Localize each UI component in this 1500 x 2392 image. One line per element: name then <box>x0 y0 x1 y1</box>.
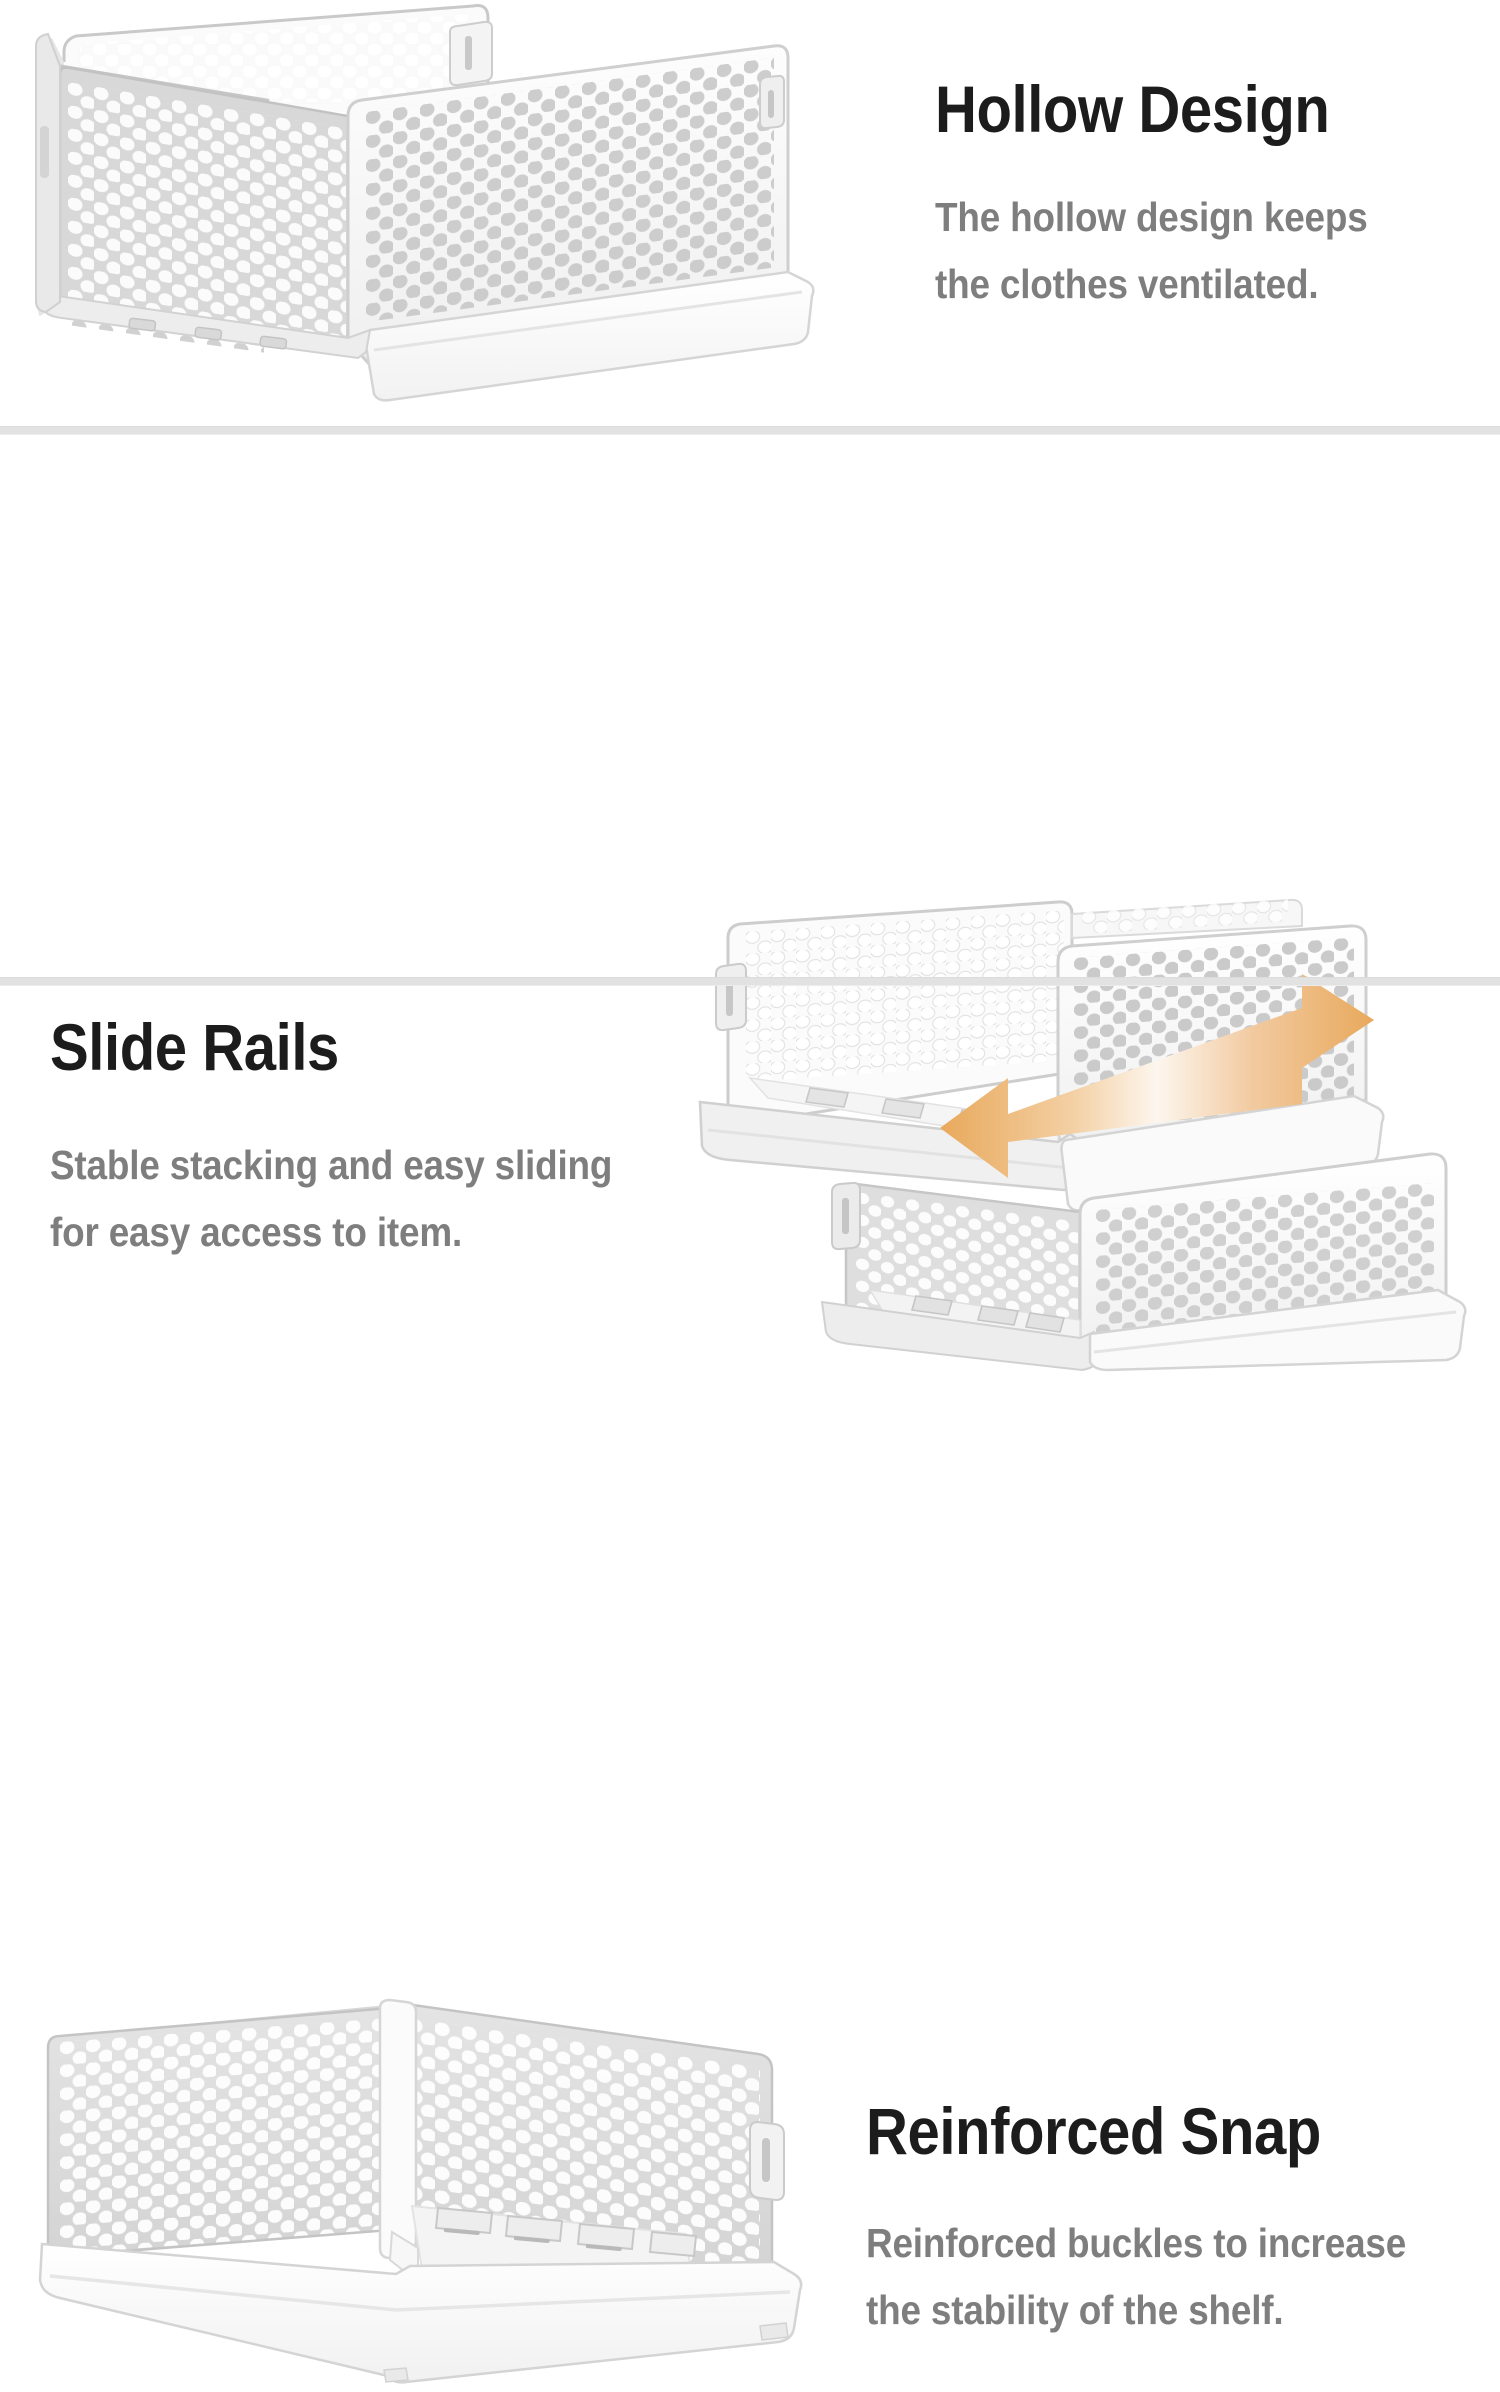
text-block-reinforced-snap: Reinforced Snap Reinforced buckles to in… <box>866 2094 1486 2344</box>
headline-reinforced-snap: Reinforced Snap <box>866 2094 1412 2168</box>
body-hollow-design: The hollow design keeps the clothes vent… <box>935 184 1439 318</box>
infographic-page: Hollow Design The hollow design keeps th… <box>0 0 1500 1410</box>
product-image-hollow-design <box>18 0 838 410</box>
body-reinforced-snap: Reinforced buckles to increase the stabi… <box>866 2210 1424 2344</box>
body-line-1: The hollow design keeps <box>935 184 1439 251</box>
text-block-hollow-design: Hollow Design The hollow design keeps th… <box>935 72 1495 318</box>
headline-hollow-design: Hollow Design <box>935 72 1428 146</box>
section-reinforced-snap: Reinforced Snap Reinforced buckles to in… <box>0 984 1500 1410</box>
body-line-1: Reinforced buckles to increase <box>866 2210 1424 2277</box>
section-slide-rails: Slide Rails Stable stacking and easy sli… <box>0 432 1500 980</box>
section-hollow-design: Hollow Design The hollow design keeps th… <box>0 0 1500 428</box>
product-image-reinforced-snap <box>14 1992 844 2392</box>
body-line-2: the clothes ventilated. <box>935 251 1439 318</box>
body-line-2: the stability of the shelf. <box>866 2277 1424 2344</box>
